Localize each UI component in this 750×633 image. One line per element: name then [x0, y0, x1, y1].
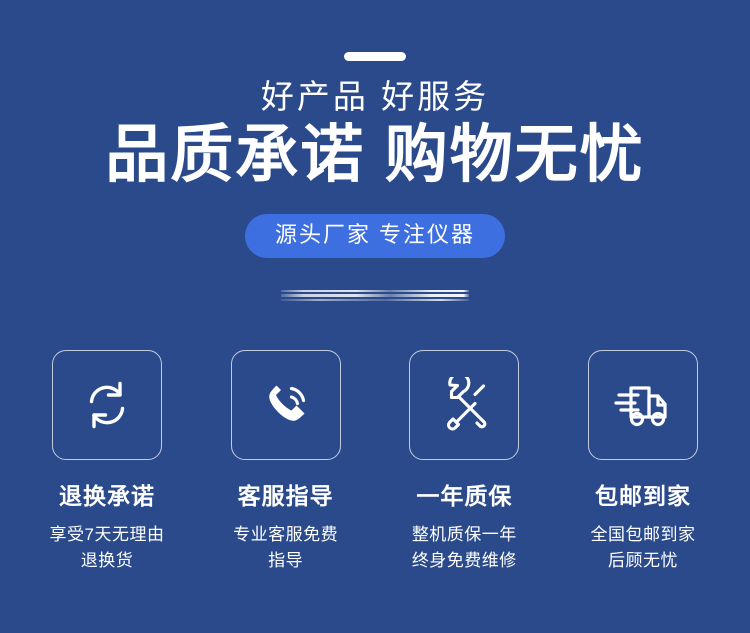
banner-badge-container: 源头厂家 专注仪器	[0, 214, 750, 258]
feature-item-customer-service: 客服指导 专业客服免费 指导	[223, 350, 349, 574]
divider-decoration	[281, 290, 469, 302]
feature-description-line-2: 退换货	[44, 548, 170, 574]
feature-description: 全国包邮到家 后顾无忧	[580, 522, 706, 574]
banner-headline: 品质承诺 购物无忧	[0, 116, 750, 194]
feature-description-line-2: 终身免费维修	[401, 548, 527, 574]
feature-description-line-1: 专业客服免费	[223, 522, 349, 548]
feature-title: 退换承诺	[44, 482, 170, 510]
feature-icon-box	[588, 350, 698, 460]
feature-description-line-1: 全国包邮到家	[580, 522, 706, 548]
promo-banner: 好产品 好服务 品质承诺 购物无忧 源头厂家 专注仪器 退换承诺	[0, 0, 750, 633]
divider-line-1	[281, 290, 469, 292]
delivery-truck-icon	[613, 379, 673, 431]
feature-description-line-1: 享受7天无理由	[44, 522, 170, 548]
feature-title: 一年质保	[401, 482, 527, 510]
feature-description: 整机质保一年 终身免费维修	[401, 522, 527, 574]
feature-description-line-1: 整机质保一年	[401, 522, 527, 548]
feature-list: 退换承诺 享受7天无理由 退换货 客服指导 专业客服免费 指导	[0, 350, 750, 574]
phone-call-icon	[257, 376, 315, 434]
feature-icon-box	[52, 350, 162, 460]
divider-line-2	[281, 294, 469, 297]
banner-subtitle: 好产品 好服务	[0, 76, 750, 118]
divider-line-3	[281, 299, 469, 301]
feature-item-return-promise: 退换承诺 享受7天无理由 退换货	[44, 350, 170, 574]
feature-item-free-shipping: 包邮到家 全国包邮到家 后顾无忧	[580, 350, 706, 574]
feature-title: 客服指导	[223, 482, 349, 510]
feature-description: 专业客服免费 指导	[223, 522, 349, 574]
feature-description: 享受7天无理由 退换货	[44, 522, 170, 574]
feature-icon-box	[231, 350, 341, 460]
top-dash-decoration	[344, 52, 406, 61]
wrench-screwdriver-icon	[436, 377, 492, 433]
feature-title: 包邮到家	[580, 482, 706, 510]
feature-item-warranty: 一年质保 整机质保一年 终身免费维修	[401, 350, 527, 574]
exchange-refresh-icon	[78, 376, 136, 434]
feature-description-line-2: 指导	[223, 548, 349, 574]
feature-description-line-2: 后顾无忧	[580, 548, 706, 574]
feature-icon-box	[409, 350, 519, 460]
banner-badge: 源头厂家 专注仪器	[245, 214, 505, 258]
